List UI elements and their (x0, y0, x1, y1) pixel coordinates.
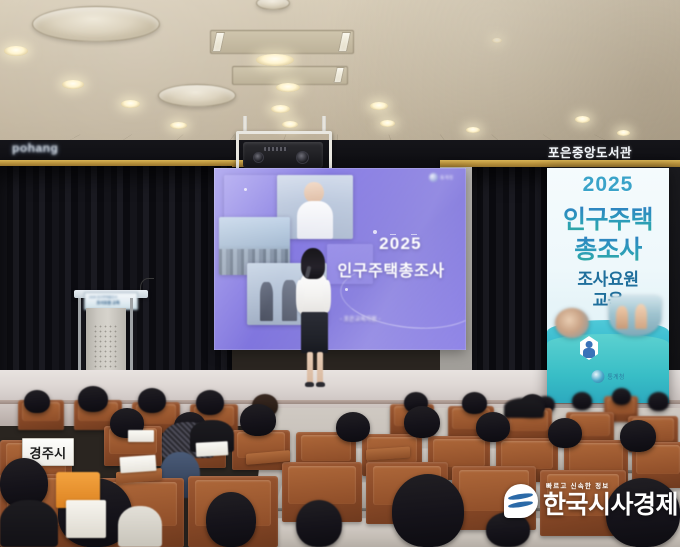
ceiling-downlight (617, 130, 630, 136)
projector-lens (253, 152, 264, 163)
presenter-leg (317, 352, 323, 384)
photo-scene: pohang 포은중앙도서관 2025 인구주택총조사 - 포은교육자원 - (0, 0, 680, 547)
seat-backrest (501, 441, 553, 469)
audience-head (620, 420, 656, 452)
wall-sign-pohang: pohang (12, 141, 58, 155)
handout-paper (128, 430, 154, 442)
audience-head (138, 388, 166, 413)
presenter-arm (296, 280, 304, 312)
audience-shoulder (0, 500, 58, 547)
audience-head (392, 474, 464, 547)
ceiling-diffuser (32, 6, 160, 42)
slide-subtitle: - 포은교육자원 - (340, 314, 380, 323)
person-head-icon (586, 341, 593, 348)
ceiling-vent-panel (210, 30, 354, 54)
handout-paper (196, 441, 229, 457)
slide-title: 인구주택총조사 (337, 257, 444, 281)
ceiling-downlight (121, 100, 140, 108)
audience-head (548, 418, 582, 448)
watermark-logo: 빠르고 신속한 정보 한국시사경제 (504, 484, 678, 518)
podium-leg (130, 298, 133, 376)
audience-head (196, 390, 224, 415)
tote-bag-white (66, 500, 106, 538)
projector-vent (264, 147, 288, 151)
seat-backrest (569, 443, 623, 472)
slide-year: 2025 (379, 234, 422, 254)
projector-lens (296, 151, 309, 164)
audience-shoulder (504, 398, 544, 418)
banner-logo-label: 통계청 (607, 372, 624, 381)
slide-government-logo: 통계청 (429, 173, 453, 182)
ceiling-downlight (575, 116, 590, 123)
government-emblem-icon (591, 370, 604, 383)
audience-head (462, 392, 487, 414)
presenter-arm (323, 280, 331, 312)
stage-curtain-right (470, 167, 552, 387)
ceiling-downlight (62, 80, 84, 89)
ceiling-downlight (466, 127, 480, 133)
presenter-shoe (316, 382, 325, 387)
ceiling-downlight (492, 38, 502, 43)
slide-logo-label: 통계청 (440, 175, 453, 181)
audience-head (78, 386, 108, 412)
watermark-text: 빠르고 신속한 정보 한국시사경제 (543, 484, 678, 518)
person-body-icon (583, 348, 595, 358)
handout-paper (119, 455, 156, 473)
audience-head (336, 412, 370, 442)
audience-head (24, 390, 50, 413)
podium-leg (78, 298, 81, 376)
audience-head (404, 406, 440, 438)
podium-perforation (93, 324, 119, 370)
ceiling-downlight (170, 122, 187, 129)
podium-sign-line1: 2025 인구주택총조사 (89, 295, 117, 299)
wave-logo-icon (504, 484, 538, 518)
presenter-leg (307, 352, 313, 384)
ceiling (0, 0, 680, 150)
audience-head (648, 392, 669, 411)
ceiling-downlight (256, 54, 294, 66)
ceiling-diffuser (158, 84, 236, 107)
watermark-name: 한국시사경제 (543, 493, 678, 518)
banner-photo-hand (555, 308, 589, 338)
watermark-tagline: 빠르고 신속한 정보 (546, 484, 678, 491)
seat-backrest (288, 466, 355, 504)
projection-screen: 2025 인구주택총조사 - 포은교육자원 - 통계청 (214, 168, 466, 350)
ceiling-downlight (370, 102, 388, 110)
audience-head (296, 500, 342, 547)
banner-year: 2025 (547, 173, 669, 197)
ceiling-downlight (271, 105, 290, 113)
banner-government-logo: 통계청 (591, 370, 624, 383)
audience-shoulder (118, 506, 162, 547)
banner-photo-family (609, 296, 661, 336)
audience-head (240, 404, 276, 436)
presenter-skirt (301, 312, 328, 353)
podium-sign-line2: 조사요원 교육 (96, 300, 119, 306)
audience-head (206, 492, 256, 547)
ceiling-downlight (380, 120, 395, 127)
slide-dot-decoration (373, 230, 377, 234)
venue-sign-label: 포은중앙도서관 (548, 142, 632, 161)
ceiling-downlight (276, 83, 300, 92)
government-emblem-icon (429, 173, 438, 182)
event-banner: 2025 인구주택 총조사 조사요원 교육 통계청 (547, 168, 669, 403)
presenter-shoe (305, 382, 314, 387)
placard-label: 경주시 (29, 443, 66, 462)
banner-title-line2: 총조사 (547, 230, 669, 266)
audience-head (476, 412, 510, 442)
ceiling-downlight (4, 46, 28, 56)
ceiling-downlight (282, 121, 298, 128)
audience-head (572, 392, 592, 410)
banner-wave-shape (547, 334, 669, 403)
audience-head (612, 388, 631, 405)
